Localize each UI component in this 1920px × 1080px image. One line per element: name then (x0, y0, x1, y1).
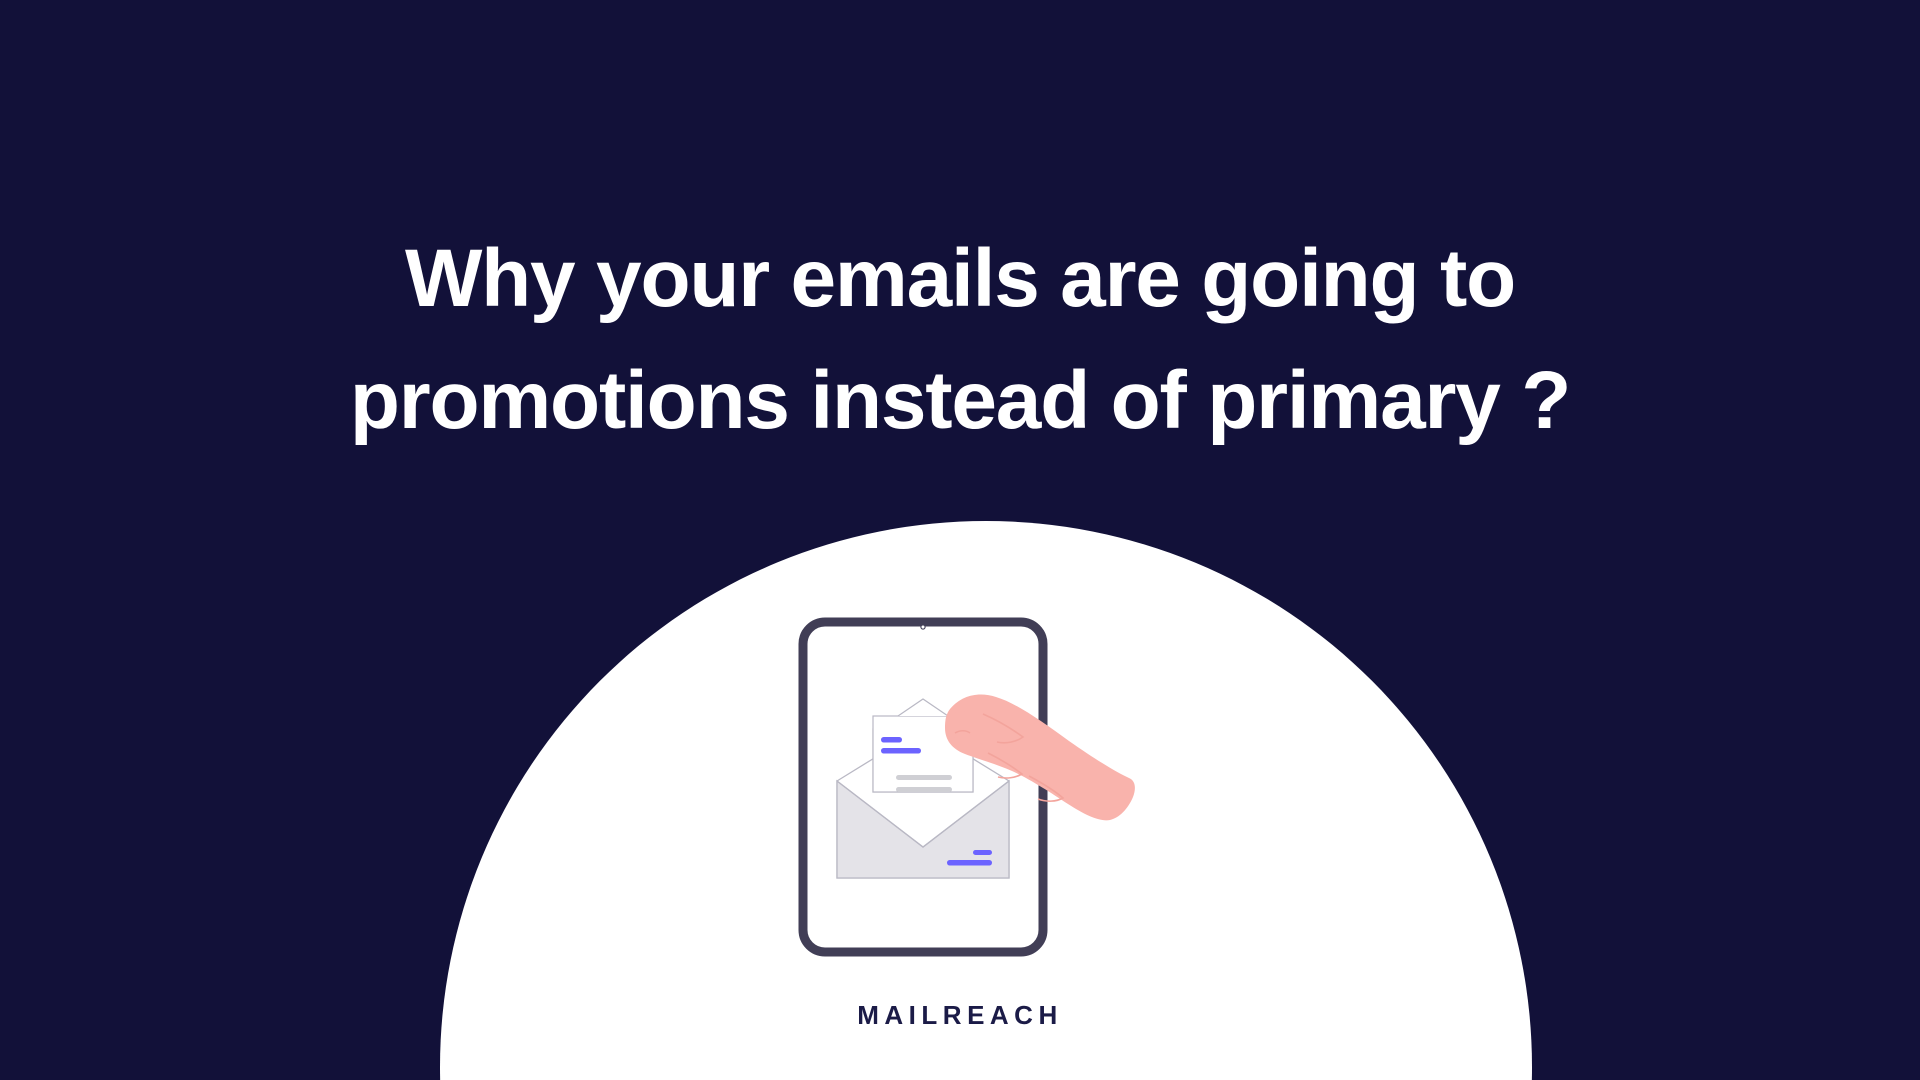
brand-name: MAILREACH (857, 1000, 1063, 1031)
slide-canvas: Why your emails are going to promotions … (0, 0, 1920, 1080)
brand-logo: MAILREACH (0, 1000, 1920, 1031)
page-title: Why your emails are going to promotions … (0, 218, 1920, 462)
title-line-1: Why your emails are going to (120, 218, 1800, 340)
title-line-2: promotions instead of primary ? (120, 340, 1800, 462)
tablet-email-hand-illustration (780, 610, 1180, 970)
